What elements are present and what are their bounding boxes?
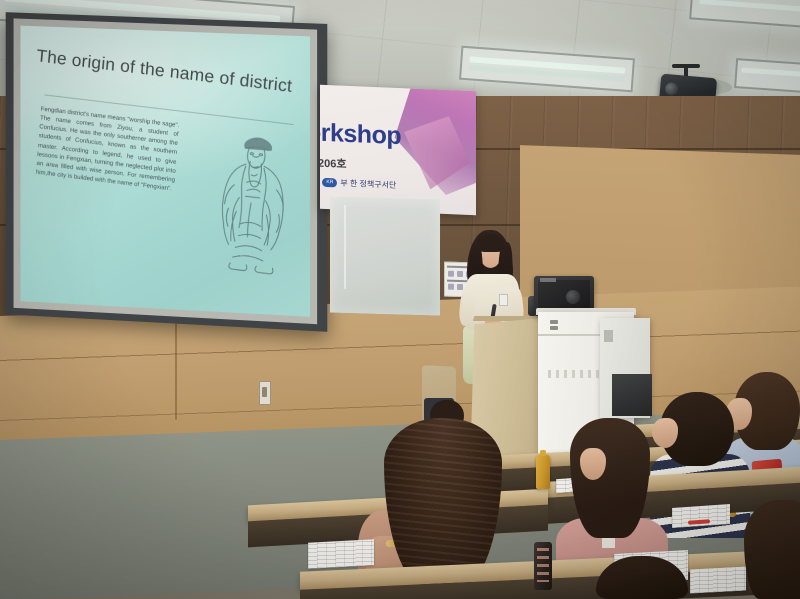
wall-panel-joint [175,310,177,420]
fluorescent-tube [699,0,800,16]
handout-grid [690,567,746,594]
wall-outlet-icon[interactable] [259,381,271,405]
slide-body-text: Fengdian district's name means "worship … [36,105,180,194]
projection-screen: The origin of the name of district Fengd… [6,12,328,332]
equipment-rack-opening [612,374,652,416]
monitor-brand-badge [540,278,556,282]
dark-beverage-can [534,542,552,590]
audience-foreground-center [596,556,688,599]
screen-bezel: The origin of the name of district Fengd… [14,18,318,324]
presenter-name-badge [499,294,508,306]
monitor-screen [538,280,590,308]
confucius-line-drawing-icon [203,120,301,280]
can-label [537,548,549,582]
podium-control-button[interactable] [550,320,558,324]
organization-badge-icon: KR [322,178,337,188]
podium-control-button[interactable] [550,326,558,330]
audience-name-tag [602,538,615,548]
lecture-room-photo: The origin of the name of district Fengd… [0,0,800,599]
handout-grid [308,539,374,568]
banner-organization: 부 KR 부 한 정책구서단 [320,176,396,191]
poster-cell [448,271,454,277]
projector-lens-icon [665,82,679,96]
banner-org-label: 부 한 정책구서단 [340,178,396,191]
desk-handout [672,504,730,528]
event-banner: orkshop 206호 부 KR 부 한 정책구서단 [320,85,476,216]
audience-foreground-right [744,500,800,599]
audience-hair [744,500,800,599]
audience-hair [596,556,688,599]
desk-handout [690,567,746,594]
screen-surface: The origin of the name of district Fengd… [20,26,310,317]
monitor-swivel-knob [566,290,580,304]
banner-title: orkshop [320,118,401,151]
fluorescent-tube [742,67,800,79]
handout-grid [672,504,730,528]
wall-whiteboard [330,196,440,315]
slide-title: The origin of the name of district [36,45,305,98]
desk-handout [308,539,374,568]
poster-cell [448,284,454,290]
equipment-label [604,330,613,342]
gold-bottle [536,455,550,489]
audience-hair [570,418,650,538]
whiteboard-highlight [344,205,346,289]
banner-room-number: 206호 [320,155,346,172]
